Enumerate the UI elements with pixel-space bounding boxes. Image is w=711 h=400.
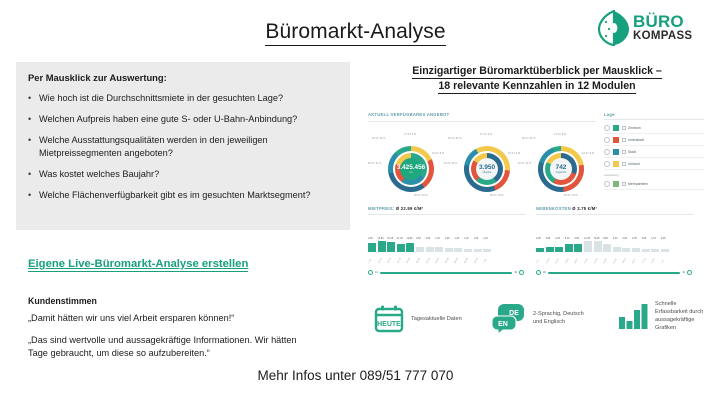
bar[interactable] <box>555 247 563 252</box>
donut-chart[interactable]: 742Angebote30 % / 21 %17 % / 9 %12 % / 8… <box>538 146 584 192</box>
color-swatch <box>613 125 619 131</box>
bar-value-label: 1,95 <box>445 237 450 240</box>
donut-center: 742Angebote <box>550 158 572 180</box>
legend-row[interactable]: Umland <box>604 158 704 170</box>
list-item: •Was kostet welches Baujahr? <box>28 168 338 181</box>
color-swatch <box>613 161 619 167</box>
chart-value: Ø 22.99 €/m² <box>396 206 423 211</box>
testimonial-2: „Das sind wertvolle und aussagekräftige … <box>28 334 318 359</box>
bar-value-label: 9,10 <box>565 237 570 240</box>
donut-tick-label: 30 % / 21 % <box>448 137 461 140</box>
bar-value-label: 2,80 <box>368 237 373 240</box>
bar-value-label: 12,95 <box>378 237 384 240</box>
bar-value-label: 1,15 <box>651 237 656 240</box>
axis-tick-label: < 2 <box>536 260 539 264</box>
color-swatch <box>613 149 619 155</box>
bar[interactable] <box>397 244 405 252</box>
bar-value-label: 15,45 <box>387 237 393 240</box>
donut-center: 3.425.456m² <box>400 158 422 180</box>
donut-tick-label: 17 % / 9 % <box>404 133 416 136</box>
donut-tick-label: 17 % / 9 % <box>554 133 566 136</box>
list-item: •Welche Ausstattungsqualitäten werden in… <box>28 134 338 159</box>
feature-label: SchnelleErfassbarkeit durchaussagekräfti… <box>655 300 703 332</box>
axis-tick-label: 2-2,5 <box>546 258 550 264</box>
bar[interactable] <box>416 247 424 253</box>
bar-value-label: 16,90 <box>406 237 412 240</box>
bar-chart[interactable]: Mietpreis: Ø 22.99 €/m²2,8012,9515,4521,… <box>368 206 528 278</box>
legend-sub-title: Ausstattung <box>604 173 704 177</box>
bullet-icon: • <box>28 92 39 105</box>
bar[interactable] <box>565 244 573 252</box>
questions-list: •Wie hoch ist die Durchschnittsmiete in … <box>28 92 338 201</box>
brand-logo: BÜRO KOMPASS <box>597 7 701 49</box>
bar[interactable] <box>584 241 592 252</box>
axis-tick-label: 16-18 <box>407 258 412 264</box>
donut-tick-label: 30 % / 21 % <box>372 137 385 140</box>
bubble-en-text: EN <box>498 321 508 328</box>
eye-icon[interactable] <box>604 125 610 131</box>
legend-label: Innenstadt <box>628 138 644 142</box>
bar[interactable] <box>445 248 453 252</box>
speech-bubbles-icon: DE EN <box>492 302 526 334</box>
question-text: Welchen Aufpreis haben eine gute S- oder… <box>39 113 297 126</box>
axis-tick-label: 2,5-3 <box>555 258 559 264</box>
donut-tick-label: 12 % / 8 % <box>582 152 594 155</box>
donut-tick-label: 12 % / 8 % <box>508 152 520 155</box>
axis-tick-label: > 8 <box>661 260 664 264</box>
legend-row[interactable]: Zentrum <box>604 122 704 134</box>
donut-value: 3.950 <box>479 164 495 171</box>
bar-value-label: 1,25 <box>454 237 459 240</box>
feature-grafiken: SchnelleErfassbarkeit durchaussagekräfti… <box>618 300 703 332</box>
compass-leaf-icon <box>597 10 631 46</box>
slider-knob-max[interactable] <box>519 270 524 275</box>
donut-tick-label: 25 % / 14 % <box>564 194 577 197</box>
checkbox[interactable] <box>622 162 626 166</box>
bar[interactable] <box>483 249 491 252</box>
chart-title: Mietpreis: Ø 22.99 €/m² <box>368 206 423 211</box>
bar-value-label: 2,45 <box>555 237 560 240</box>
donut-tick-label: 12 % / 8 % <box>432 152 444 155</box>
donut-tick-label: 16 % / 11 % <box>518 162 531 165</box>
axis-tick-label: 28-30 <box>464 258 469 264</box>
axis-tick-label: 30-32 <box>474 258 479 264</box>
dashboard-screenshot[interactable]: Aktuell verfügbares Angebot 3.425.456m²3… <box>366 108 708 280</box>
donut-unit: m² <box>409 171 412 174</box>
bar[interactable] <box>435 247 443 252</box>
slider-track[interactable] <box>548 272 681 274</box>
feature-row: HEUTE Tagesaktuelle Daten DE EN 2-Sprach… <box>368 296 708 356</box>
slider-max-label: 40 <box>514 271 517 274</box>
questions-panel: Per Mausklick zur Auswertung: •Wie hoch … <box>16 62 350 230</box>
divider <box>604 119 704 120</box>
axis-tick-label: 24-26 <box>445 258 450 264</box>
bar[interactable] <box>368 243 376 252</box>
legend-row[interactable]: Innenstadt <box>604 134 704 146</box>
divider <box>536 214 694 215</box>
footer-contact: Mehr Infos unter 089/51 777 070 <box>0 368 711 383</box>
list-item: •Wie hoch ist die Durchschnittsmiete in … <box>28 92 338 105</box>
color-swatch <box>613 137 619 143</box>
legend-label: Mehrparteien <box>628 182 648 186</box>
checkbox[interactable] <box>622 138 626 142</box>
slider-min-label: 00 <box>543 271 546 274</box>
divider <box>368 121 596 122</box>
axis-tick-label: 22-24 <box>435 258 440 264</box>
bar[interactable] <box>613 247 621 252</box>
overview-heading-line1: Einzigartiger Büromarktüberblick per Mau… <box>412 65 662 79</box>
bullet-icon: • <box>28 134 39 159</box>
bar[interactable] <box>546 247 554 252</box>
bar[interactable] <box>632 248 640 252</box>
donut-value: 3.425.456 <box>397 164 425 171</box>
bar[interactable] <box>454 248 462 252</box>
bar[interactable] <box>426 247 434 252</box>
bullet-icon: • <box>28 113 39 126</box>
axis-tick-label: 14-16 <box>397 258 402 264</box>
question-text: Welche Flächenverfügbarkeit gibt es im g… <box>39 189 311 202</box>
donut-unit: Objekte <box>483 171 492 174</box>
axis-tick-label: 4-4,5 <box>584 258 588 264</box>
eye-icon[interactable] <box>604 137 610 143</box>
checkbox[interactable] <box>622 182 626 186</box>
feature-tagesaktuelle: HEUTE Tagesaktuelle Daten <box>374 304 462 334</box>
list-item: •Welche Flächenverfügbarkeit gibt es im … <box>28 189 338 202</box>
bar-value-label: 12,05 <box>594 237 600 240</box>
donut-tick-label: 25 % / 14 % <box>490 194 503 197</box>
axis-tick-label: 6,5-7 <box>632 258 636 264</box>
legend-label: Stadt <box>628 150 636 154</box>
bar-value-label: 1,20 <box>483 237 488 240</box>
donut-unit: Angebote <box>555 171 566 174</box>
axis-tick-label: 3-3,5 <box>565 258 569 264</box>
bar[interactable] <box>536 248 544 252</box>
bar-value-label: 2,05 <box>642 237 647 240</box>
bar-value-label: 21,40 <box>397 237 403 240</box>
axis-tick-label: < 10 <box>368 259 372 264</box>
legend-row[interactable]: Stadt <box>604 146 704 158</box>
donut-tick-label: 16 % / 11 % <box>444 162 457 165</box>
question-text: Welche Ausstattungsqualitäten werden in … <box>39 134 338 159</box>
page-title-text: Büromarkt-Analyse <box>265 20 445 46</box>
logo-wordmark: BÜRO KOMPASS <box>633 13 692 43</box>
bar[interactable] <box>464 249 472 252</box>
slider-knob-min[interactable] <box>368 270 373 275</box>
checkbox[interactable] <box>622 126 626 130</box>
axis-tick-label: 7-7,5 <box>642 258 646 264</box>
feature-bilingual: DE EN 2-Sprachig, Deutschund Englisch <box>492 302 584 334</box>
legend-label: Zentrum <box>628 126 641 130</box>
axis-tick-label: 3,5-4 <box>575 258 579 264</box>
axis-tick-label: > 32 <box>483 259 487 264</box>
supply-section-label: Aktuell verfügbares Angebot <box>368 112 449 117</box>
legend-row[interactable]: Mehrparteien <box>604 178 704 190</box>
slider-knob-min[interactable] <box>536 270 541 275</box>
legend-label: Umland <box>628 162 640 166</box>
bullet-icon: • <box>28 168 39 181</box>
chart-title: Nebenkosten Ø 3.75 €/m² <box>536 206 597 211</box>
bar-chart-icon <box>618 301 648 331</box>
question-text: Was kostet welches Baujahr? <box>39 168 159 181</box>
bar[interactable] <box>474 249 482 252</box>
range-slider[interactable]: 0010 <box>536 269 692 276</box>
bar-value-label: 3,40 <box>613 237 618 240</box>
bar-value-label: 2,05 <box>661 237 666 240</box>
axis-tick-label: 5,5-6 <box>613 258 617 264</box>
axis-tick-label: 6-6,5 <box>623 258 627 264</box>
bar-value-label: 12,35 <box>584 237 590 240</box>
checkbox[interactable] <box>622 150 626 154</box>
bar[interactable] <box>661 249 669 252</box>
feature-label: Tagesaktuelle Daten <box>411 315 462 323</box>
bar-value-label: 1,40 <box>435 237 440 240</box>
bar[interactable] <box>651 249 659 252</box>
bar-value-label: 8,80 <box>603 237 608 240</box>
donut-chart[interactable]: 3.425.456m²30 % / 21 %17 % / 9 %12 % / 8… <box>388 146 434 192</box>
eye-icon[interactable] <box>604 181 610 187</box>
donut-tick-label: 16 % / 11 % <box>368 162 381 165</box>
legend-title: Lage <box>604 112 704 117</box>
overview-heading-line2: 18 relevante Kennzahlen in 12 Modulen <box>438 80 635 94</box>
create-analysis-link[interactable]: Eigene Live-Büromarkt-Analyse erstellen <box>28 258 248 272</box>
donut-center: 3.950Objekte <box>476 158 498 180</box>
lage-legend[interactable]: Lage ZentrumInnenstadtStadtUmland Aussta… <box>604 112 704 190</box>
bar[interactable] <box>622 248 630 252</box>
testimonials-heading: Kundenstimmen <box>28 296 97 306</box>
donut-tick-label: 30 % / 21 % <box>522 137 535 140</box>
bars-group <box>536 241 669 252</box>
logo-brand-bottom: KOMPASS <box>633 31 692 43</box>
chart-value: Ø 3.75 €/m² <box>572 206 597 211</box>
bar[interactable] <box>603 244 611 252</box>
donut-chart[interactable]: 3.950Objekte30 % / 21 %17 % / 9 %12 % / … <box>464 146 510 192</box>
slider-max-label: 10 <box>682 271 685 274</box>
donut-value: 742 <box>556 164 567 171</box>
logo-brand-top: BÜRO <box>633 13 692 30</box>
eye-icon[interactable] <box>604 161 610 167</box>
bar-value-label: 2,90 <box>622 237 627 240</box>
slider-min-label: 10 <box>375 271 378 274</box>
bar-value-label: 2,95 <box>546 237 551 240</box>
range-slider[interactable]: 1040 <box>368 269 524 276</box>
bar[interactable] <box>378 241 386 252</box>
slide-root: Büromarkt-Analyse BÜRO KOMPASS Per Mausk… <box>0 0 711 400</box>
testimonial-1: „Damit hätten wir uns viel Arbeit erspar… <box>28 313 234 323</box>
bar[interactable] <box>642 249 650 252</box>
axis-tick-label: 12-14 <box>387 258 392 264</box>
axis-tick-label: 10-12 <box>378 258 383 264</box>
bar-value-label: 1,00 <box>474 237 479 240</box>
axis-tick-label: 20-22 <box>426 258 431 264</box>
axis-tick-label: 7,5-8 <box>651 258 655 264</box>
feature-label: 2-Sprachig, Deutschund Englisch <box>533 310 584 326</box>
bar-value-label: 2,60 <box>426 237 431 240</box>
bar[interactable] <box>387 242 395 252</box>
questions-panel-heading: Per Mausklick zur Auswertung: <box>28 72 338 83</box>
color-swatch <box>613 181 619 187</box>
overview-heading: Einzigartiger Büromarktüberblick per Mau… <box>368 64 706 94</box>
bar-value-label: 3,50 <box>416 237 421 240</box>
divider <box>368 214 526 215</box>
bar[interactable] <box>594 241 602 252</box>
bar-value-label: 2,35 <box>632 237 637 240</box>
bar-value-label: 1,20 <box>464 237 469 240</box>
donut-tick-label: 17 % / 9 % <box>480 133 492 136</box>
bar-chart[interactable]: Nebenkosten Ø 3.75 €/m²2,052,952,459,109… <box>536 206 696 278</box>
bar[interactable] <box>574 244 582 252</box>
bar-value-label: 2,05 <box>536 237 541 240</box>
slider-track[interactable] <box>380 272 513 274</box>
axis-tick-label: 18-20 <box>416 258 421 264</box>
bar-value-label: 9,50 <box>574 237 579 240</box>
donut-tick-label: 25 % / 14 % <box>414 194 427 197</box>
list-item: •Welchen Aufpreis haben eine gute S- ode… <box>28 113 338 126</box>
eye-icon[interactable] <box>604 149 610 155</box>
axis-tick-label: 4,5-5 <box>594 258 598 264</box>
question-text: Wie hoch ist die Durchschnittsmiete in d… <box>39 92 283 105</box>
bar[interactable] <box>406 243 414 252</box>
axis-tick-label: 5-5,5 <box>603 258 607 264</box>
slider-knob-max[interactable] <box>687 270 692 275</box>
bullet-icon: • <box>28 189 39 202</box>
calendar-icon: HEUTE <box>374 304 404 334</box>
calendar-icon-text: HEUTE <box>377 321 401 328</box>
bars-group <box>368 241 491 252</box>
axis-tick-label: 26-28 <box>455 258 460 264</box>
